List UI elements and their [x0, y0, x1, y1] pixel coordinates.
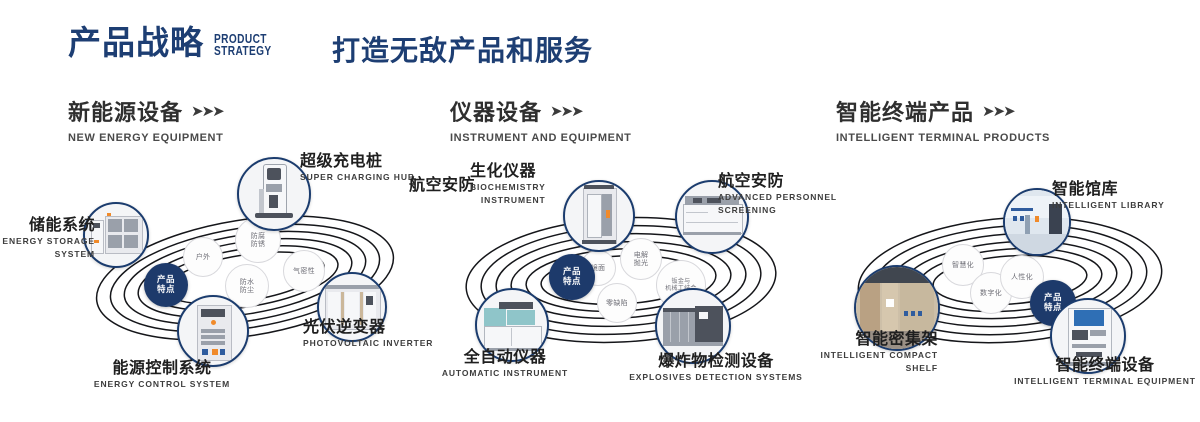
core-line2: 特点	[157, 285, 175, 295]
feature-line1: 数字化	[980, 289, 1002, 297]
node-label-en-line2: SHELF	[790, 363, 938, 374]
node-label-photovoltaic-inverter: 光伏逆变器 PHOTOVOLTAIC INVERTER	[303, 318, 433, 349]
node-label-energy-storage: 储能系统 ENERGY STORAGE SYSTEM	[0, 216, 95, 259]
node-label-en-line2: SYSTEM	[0, 249, 95, 260]
chevron-triple-icon: ➤➤➤	[550, 102, 582, 120]
feature-line2: 防锈	[251, 240, 266, 248]
node-label-cn: 能源控制系统	[76, 359, 248, 377]
chevron-triple-icon: ➤➤➤	[191, 102, 223, 120]
biochemistry-instrument-art	[565, 182, 633, 250]
feature-bubble: 户外	[183, 237, 223, 277]
feature-line1: 零缺陷	[606, 299, 628, 307]
feature-line1: 气密性	[293, 267, 315, 275]
node-label-intelligent-terminal-equipment: 智能终端设备 INTELLIGENT TERMINAL EQUIPMENT	[1012, 356, 1198, 387]
node-label-cn: 智能终端设备	[1012, 356, 1198, 374]
node-label-intelligent-compact-shelf: 智能密集架 INTELLIGENT COMPACT SHELF	[790, 330, 938, 373]
node-label-cn: 智能馆库	[1052, 180, 1165, 198]
node-bubble-biochemistry-instrument[interactable]	[563, 180, 635, 252]
feature-line1: 智慧化	[952, 261, 974, 269]
node-label-en-line1: SUPER CHARGING HUB	[300, 172, 415, 183]
feature-line1: 防腐	[251, 232, 266, 240]
core-line1: 产品	[563, 267, 581, 277]
page-subtitle: 打造无敌产品和服务	[332, 34, 593, 68]
node-label-en-line1: PHOTOVOLTAIC INVERTER	[303, 338, 433, 349]
section-title-cn: 仪器设备	[450, 95, 542, 127]
page-title-en: PRODUCT STRATEGY	[214, 33, 272, 57]
feature-line1: 电解	[634, 251, 649, 259]
node-label-cn: 超级充电桩	[300, 152, 415, 170]
section-header-new-energy: 新能源设备➤➤➤ NEW ENERGY EQUIPMENT	[68, 95, 223, 144]
section-header-instrument: 仪器设备➤➤➤ INSTRUMENT AND EQUIPMENT	[450, 95, 631, 144]
node-label-en-line1: EXPLOSIVES DETECTION SYSTEMS	[604, 372, 828, 383]
charging-hub-art	[239, 159, 309, 229]
node-label-en-line2: INSTRUMENT	[470, 195, 546, 206]
energy-control-art	[179, 297, 247, 365]
node-label-cn: 光伏逆变器	[303, 318, 433, 336]
chevron-triple-icon: ➤➤➤	[982, 102, 1014, 120]
node-label-biochemistry-instrument: 生化仪器 BIOCHEMISTRY INSTRUMENT	[470, 162, 546, 205]
node-label-automatic-instrument: 全自动仪器 AUTOMATIC INSTRUMENT	[425, 348, 585, 379]
node-label-en-line1: INTELLIGENT LIBRARY	[1052, 200, 1165, 211]
section-title-cn: 新能源设备	[68, 95, 183, 127]
page-title-en-line2: STRATEGY	[214, 45, 272, 57]
feature-line1: 防水	[240, 278, 255, 286]
section-title-en: INSTRUMENT AND EQUIPMENT	[450, 132, 631, 144]
node-label-en-line1: ENERGY CONTROL SYSTEM	[76, 379, 248, 390]
feature-bubble: 零缺陷	[597, 283, 637, 323]
section-title-cn: 智能终端产品	[836, 95, 974, 127]
node-label-cn: 全自动仪器	[425, 348, 585, 366]
node-label-cn: 智能密集架	[790, 330, 938, 348]
aside-label-aviation-security: 航空安防	[409, 176, 475, 194]
infographic-root: 产品战略 PRODUCT STRATEGY 打造无敌产品和服务 新能源设备➤➤➤…	[0, 0, 1200, 422]
feature-line2: 防尘	[240, 286, 255, 294]
node-label-cn: 储能系统	[0, 216, 95, 234]
node-label-energy-control-system: 能源控制系统 ENERGY CONTROL SYSTEM	[76, 359, 248, 390]
node-label-en-line1: ENERGY STORAGE	[0, 236, 95, 247]
node-label-super-charging-hub: 超级充电桩 SUPER CHARGING HUB	[300, 152, 415, 183]
feature-line1: 人性化	[1011, 273, 1033, 281]
page-title-cn: 产品战略	[68, 26, 204, 59]
feature-line2: 抛光	[634, 259, 649, 267]
feature-line1: 钣金与	[672, 278, 691, 285]
node-bubble-energy-control-system[interactable]	[177, 295, 249, 367]
section-header-intelligent: 智能终端产品➤➤➤ INTELLIGENT TERMINAL PRODUCTS	[836, 95, 1050, 144]
node-label-en-line1: BIOCHEMISTRY	[470, 182, 546, 193]
section-title-en: NEW ENERGY EQUIPMENT	[68, 132, 223, 144]
cluster-new-energy: 户外 防腐防锈 防水防尘 气密性 产品特点	[55, 160, 435, 390]
core-line1: 产品	[157, 275, 175, 285]
core-bubble-product-features: 产品特点	[549, 254, 595, 300]
node-label-intelligent-library: 智能馆库 INTELLIGENT LIBRARY	[1052, 180, 1165, 211]
node-label-en-line1: AUTOMATIC INSTRUMENT	[425, 368, 585, 379]
aside-label-cn: 航空安防	[409, 176, 475, 194]
node-label-en-line1: INTELLIGENT COMPACT	[790, 350, 938, 361]
node-label-en-line1: INTELLIGENT TERMINAL EQUIPMENT	[1012, 376, 1198, 387]
section-title-en: INTELLIGENT TERMINAL PRODUCTS	[836, 132, 1050, 144]
node-label-cn: 生化仪器	[470, 162, 546, 180]
header-title-group: 产品战略 PRODUCT STRATEGY	[68, 26, 288, 59]
core-line2: 特点	[563, 277, 581, 287]
feature-line1: 户外	[196, 253, 211, 261]
